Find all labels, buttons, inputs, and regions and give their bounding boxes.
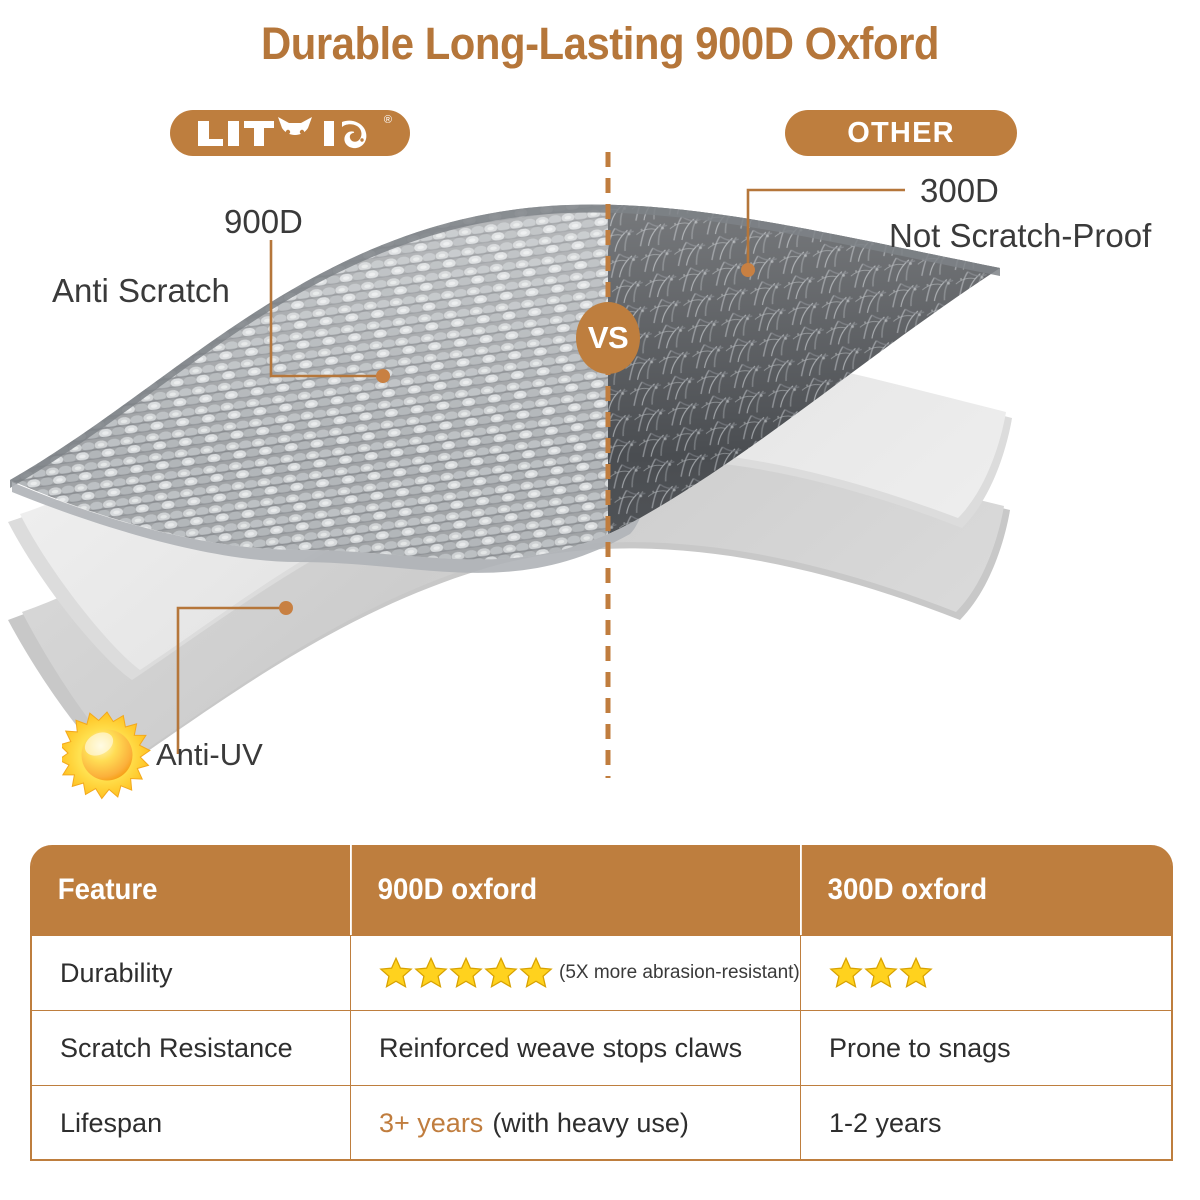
durability-note-900d: (5X more abrasion-resistant): [559, 962, 800, 984]
registered-mark: ®: [384, 115, 392, 126]
table-header-300d: 300D oxford: [800, 845, 1141, 935]
sun-icon: [62, 710, 152, 800]
star-icon: [379, 956, 413, 990]
vs-badge-label: VS: [588, 320, 628, 356]
infographic-page: Durable Long-Lasting 900D Oxford: [0, 0, 1200, 1200]
lifespan-value-900d: 3+ years: [379, 1108, 483, 1139]
litail-cat-logo-icon: [190, 116, 390, 150]
leader-dot-900d: [376, 369, 390, 383]
star-rating-300d: [829, 956, 933, 990]
cell-300d-lifespan: 1-2 years: [800, 1086, 1171, 1160]
leader-dot-300d: [741, 263, 755, 277]
callout-label-300d: 300D: [920, 172, 999, 210]
star-icon: [864, 956, 898, 990]
callout-label-900d: 900D: [224, 203, 303, 241]
star-icon: [899, 956, 933, 990]
cell-900d-scratch: Reinforced weave stops claws: [350, 1011, 800, 1085]
star-icon: [414, 956, 448, 990]
table-row: Lifespan 3+ years (with heavy use) 1-2 y…: [32, 1085, 1171, 1160]
page-title: Durable Long-Lasting 900D Oxford: [42, 18, 1158, 70]
star-icon: [519, 956, 553, 990]
leader-dot-antiuv: [279, 601, 293, 615]
cell-300d-durability: [800, 936, 1171, 1010]
table-row: Durability (5X more abrasion-resistant): [32, 935, 1171, 1010]
row-label-scratch-resistance: Scratch Resistance: [32, 1011, 350, 1085]
lifespan-note-900d: (with heavy use): [492, 1108, 689, 1139]
star-icon: [484, 956, 518, 990]
cell-900d-durability: (5X more abrasion-resistant): [350, 936, 800, 1010]
star-rating-900d: [379, 956, 553, 990]
litail-logo: ®: [190, 116, 390, 150]
comparison-table: Feature 900D oxford 300D oxford Durabili…: [30, 845, 1173, 1161]
table-header-row: Feature 900D oxford 300D oxford: [32, 845, 1171, 935]
star-icon: [449, 956, 483, 990]
other-badge-label: OTHER: [847, 117, 955, 150]
row-label-lifespan: Lifespan: [32, 1086, 350, 1160]
table-header-900d: 900D oxford: [350, 845, 764, 935]
table-header-feature: Feature: [32, 845, 325, 935]
cell-900d-lifespan: 3+ years (with heavy use): [350, 1086, 800, 1160]
table-row: Scratch Resistance Reinforced weave stop…: [32, 1010, 1171, 1085]
vs-badge: VS: [576, 302, 640, 374]
callout-label-not-scratch-proof: Not Scratch-Proof: [889, 217, 1151, 255]
star-icon: [829, 956, 863, 990]
callout-label-antiscratch: Anti Scratch: [52, 272, 230, 310]
callout-label-antiuv: Anti-UV: [156, 737, 263, 773]
row-label-durability: Durability: [32, 936, 350, 1010]
cell-300d-scratch: Prone to snags: [800, 1011, 1171, 1085]
